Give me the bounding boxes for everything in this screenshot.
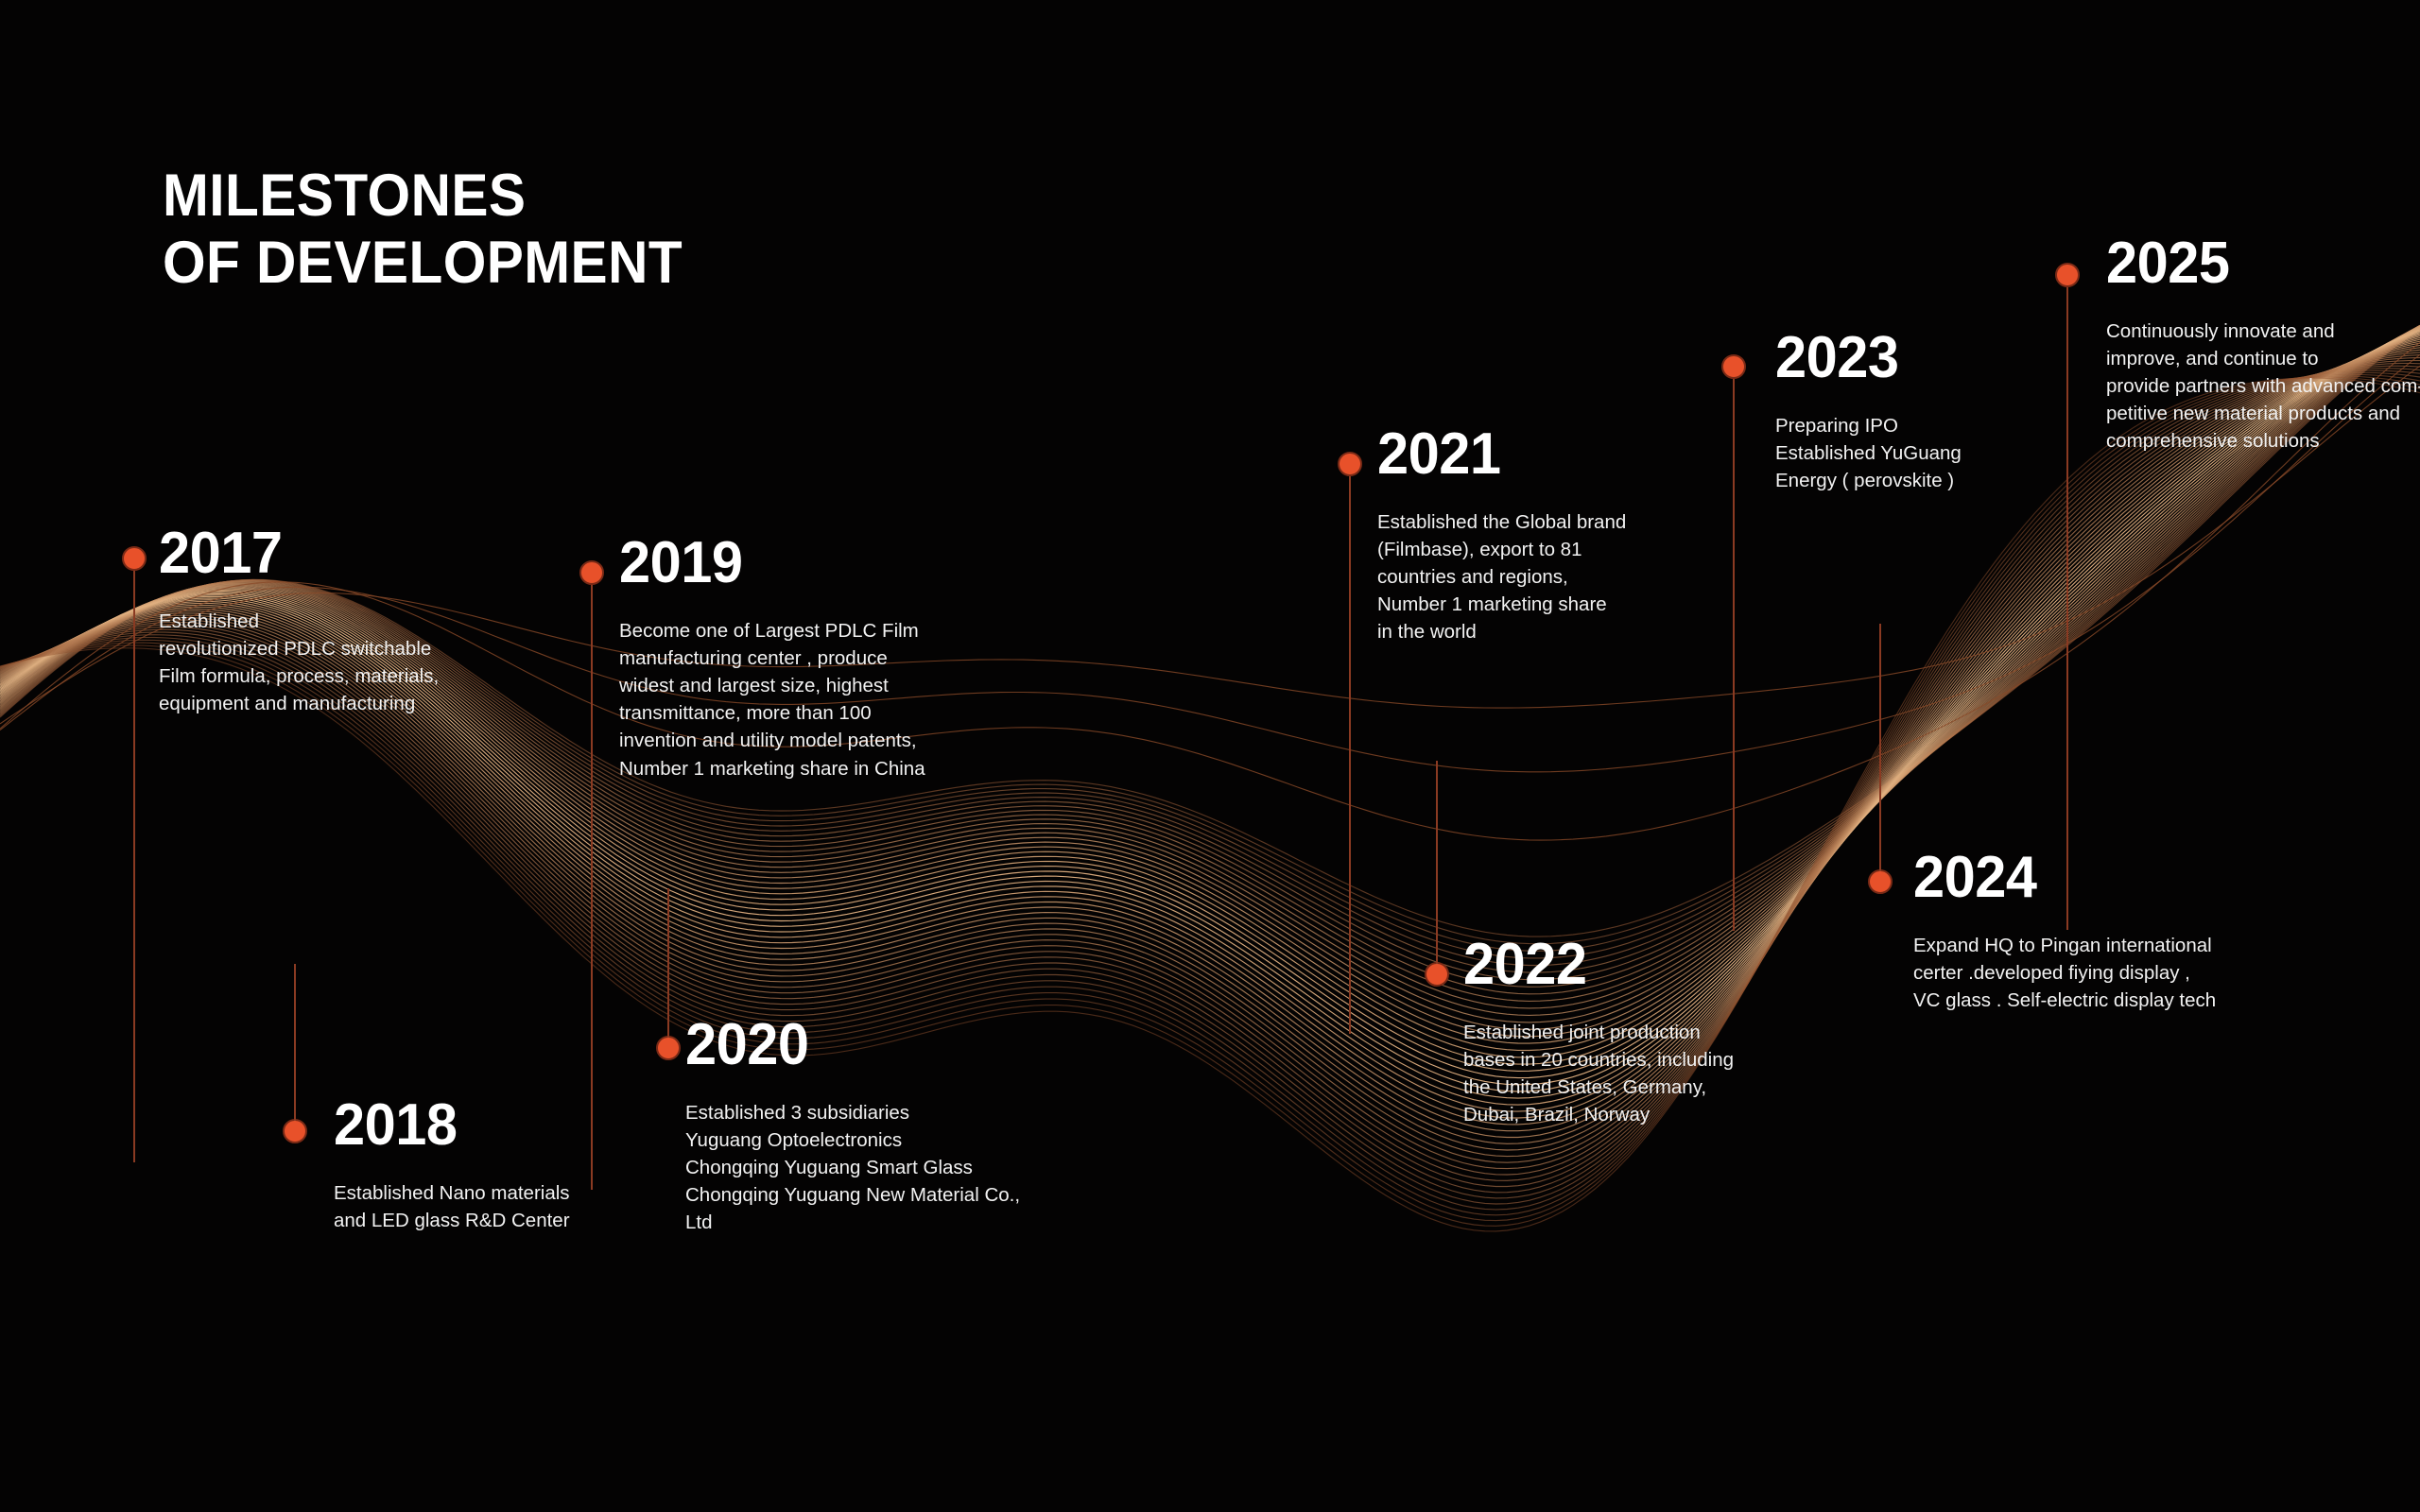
milestone-year: 2018 xyxy=(334,1096,624,1155)
milestone-stem-2021 xyxy=(1349,476,1351,1034)
milestone-stem-2022 xyxy=(1436,761,1438,964)
milestone-2022[interactable]: 2022 Established joint production bases … xyxy=(1463,936,1794,1128)
milestone-stem-2025 xyxy=(2066,287,2068,930)
milestone-marker-2024[interactable] xyxy=(1868,869,1893,894)
milestone-year: 2021 xyxy=(1377,425,1685,484)
milestone-stem-2020 xyxy=(667,888,669,1038)
milestone-2024[interactable]: 2024 Expand HQ to Pingan international c… xyxy=(1913,849,2273,1014)
milestone-marker-2019[interactable] xyxy=(579,560,604,585)
milestone-year: 2023 xyxy=(1775,329,2075,387)
milestone-2019[interactable]: 2019 Become one of Largest PDLC Film man… xyxy=(619,534,945,782)
milestone-stem-2018 xyxy=(294,964,296,1121)
milestone-marker-2021[interactable] xyxy=(1338,452,1362,476)
milestone-description: Established joint production bases in 20… xyxy=(1463,1019,1794,1128)
milestone-stem-2024 xyxy=(1879,624,1881,871)
milestone-2020[interactable]: 2020 Established 3 subsidiaries Yuguang … xyxy=(685,1016,1035,1237)
milestone-description: Continuously innovate and improve, and c… xyxy=(2106,318,2420,455)
milestone-year: 2017 xyxy=(159,524,458,583)
milestone-marker-2018[interactable] xyxy=(283,1119,307,1143)
milestone-year: 2020 xyxy=(685,1016,1021,1074)
milestone-marker-2025[interactable] xyxy=(2055,263,2080,287)
milestone-2017[interactable]: 2017 Established revolutionized PDLC swi… xyxy=(159,524,471,717)
milestone-description: Preparing IPO Established YuGuang Energy… xyxy=(1775,412,2087,494)
milestone-marker-2020[interactable] xyxy=(656,1036,681,1060)
milestone-description: Become one of Largest PDLC Film manufact… xyxy=(619,617,945,782)
milestone-year: 2025 xyxy=(2106,234,2420,293)
milestone-marker-2022[interactable] xyxy=(1425,962,1449,987)
milestone-stem-2023 xyxy=(1733,379,1735,931)
milestone-marker-2017[interactable] xyxy=(122,546,147,571)
milestone-2021[interactable]: 2021 Established the Global brand (Filmb… xyxy=(1377,425,1699,646)
milestone-marker-2023[interactable] xyxy=(1721,354,1746,379)
milestone-year: 2024 xyxy=(1913,849,2258,907)
milestone-stem-2019 xyxy=(591,585,593,1190)
page-title: MILESTONES OF DEVELOPMENT xyxy=(163,163,683,296)
milestone-year: 2019 xyxy=(619,534,932,593)
milestone-year: 2022 xyxy=(1463,936,1781,994)
milestone-description: Established 3 subsidiaries Yuguang Optoe… xyxy=(685,1099,1035,1237)
milestone-description: Established the Global brand (Filmbase),… xyxy=(1377,508,1699,646)
milestone-2025[interactable]: 2025 Continuously innovate and improve, … xyxy=(2106,234,2420,455)
infographic-canvas: MILESTONES OF DEVELOPMENT 2017 Establish… xyxy=(0,0,2420,1512)
milestone-stem-2017 xyxy=(133,571,135,1162)
milestone-2023[interactable]: 2023 Preparing IPO Established YuGuang E… xyxy=(1775,329,2087,494)
milestone-description: Expand HQ to Pingan international certer… xyxy=(1913,932,2273,1014)
milestone-description: Established revolutionized PDLC switchab… xyxy=(159,608,471,717)
